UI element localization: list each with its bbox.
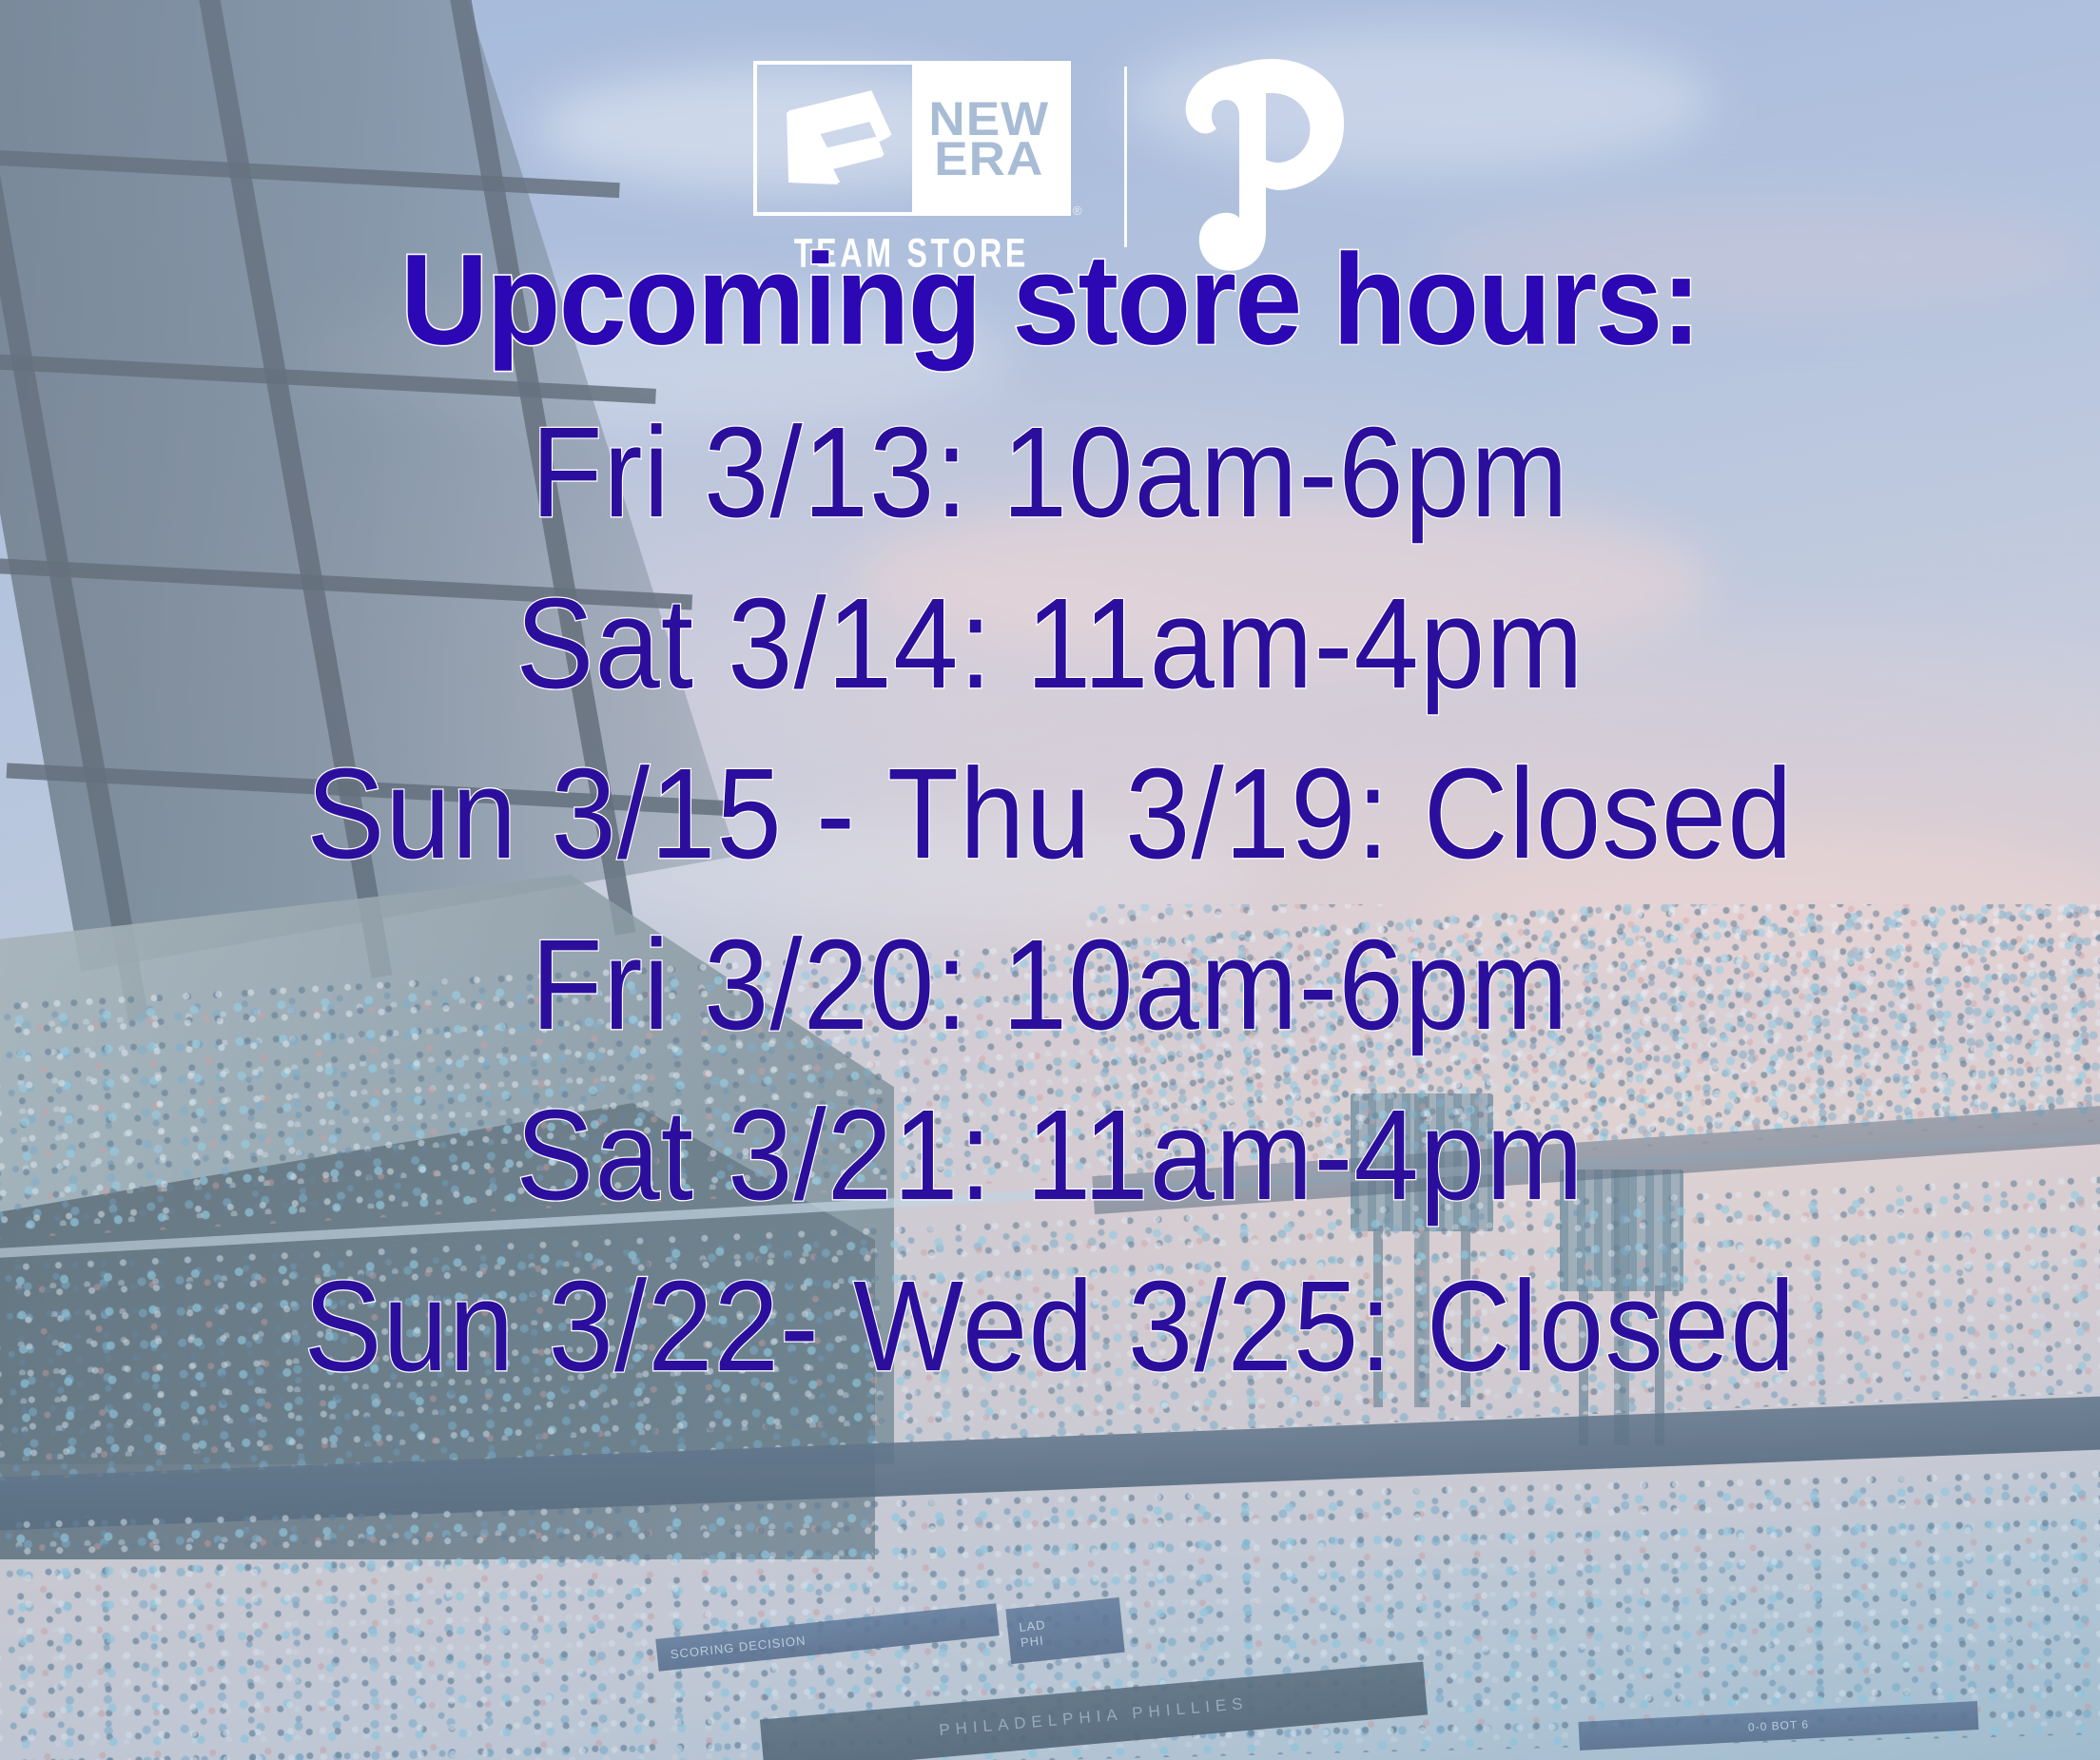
store-hours-line: Fri 3/20: 10am-6pm: [531, 892, 1568, 1080]
lockup-divider: [1124, 67, 1127, 247]
store-hours-line: Sat 3/21: 11am-4pm: [515, 1062, 1584, 1250]
store-hours-list: Fri 3/13: 10am-6pm Sat 3/14: 11am-4pm Su…: [0, 388, 2100, 1412]
store-hours-line: Sun 3/22- Wed 3/25: Closed: [303, 1233, 1796, 1422]
store-hours-poster: SCORING DECISION LAD PHI PHILADELPHIA PH…: [0, 0, 2100, 1760]
new-era-flag-icon: [757, 65, 912, 212]
registered-mark: ®: [1073, 203, 1082, 218]
store-hours-line: Sun 3/15 - Thu 3/19: Closed: [306, 721, 1793, 909]
new-era-word-line2: ERA: [929, 139, 1050, 179]
store-hours-line: Sat 3/14: 11am-4pm: [515, 551, 1584, 739]
new-era-wordmark: NEW ERA ®: [912, 65, 1067, 212]
new-era-logo-box: NEW ERA ®: [753, 61, 1071, 216]
store-hours-line: Fri 3/13: 10am-6pm: [531, 379, 1568, 568]
page-title: Upcoming store hours:: [0, 236, 2100, 365]
